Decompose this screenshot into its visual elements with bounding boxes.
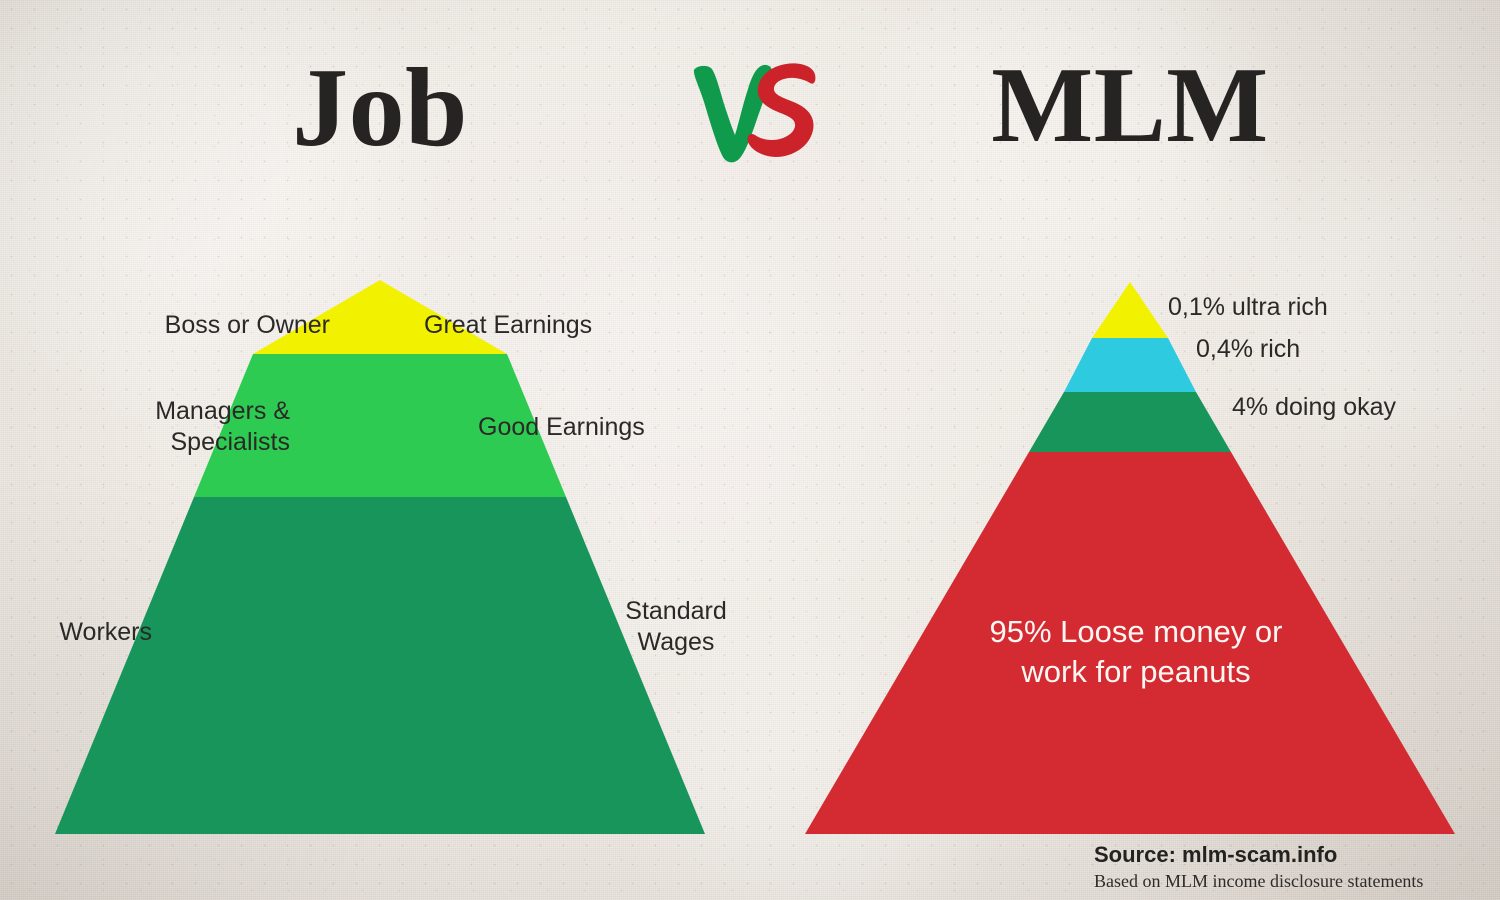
- mlm-tier-doing-okay: [1029, 392, 1231, 452]
- source-attribution: Source: mlm-scam.info Based on MLM incom…: [1072, 842, 1492, 892]
- job-label-great-earnings: Great Earnings: [424, 310, 684, 341]
- title-mlm: MLM: [760, 52, 1500, 160]
- source-subline: Based on MLM income disclosure statement…: [1094, 871, 1492, 892]
- job-label-workers: Workers: [0, 617, 152, 648]
- mlm-label-doing-okay: 4% doing okay: [1232, 392, 1500, 423]
- mlm-label-ultra-rich: 0,1% ultra rich: [1168, 292, 1458, 323]
- job-label-good-earnings: Good Earnings: [478, 412, 738, 443]
- job-label-managers-specialists: Managers & Specialists: [40, 396, 290, 457]
- mlm-label-loose-money: 95% Loose money or work for peanuts: [955, 612, 1317, 691]
- mlm-label-rich: 0,4% rich: [1196, 334, 1486, 365]
- mlm-tier-ultra-rich: [1092, 282, 1168, 338]
- mlm-tier-rich: [1064, 338, 1196, 392]
- job-label-standard-wages: Standard Wages: [600, 596, 752, 657]
- job-tier-workers: [55, 497, 705, 834]
- infographic-canvas: Job MLM Boss or Owner Managers & Special…: [0, 0, 1500, 900]
- title-job: Job: [0, 52, 760, 164]
- source-line: Source: mlm-scam.info: [1094, 842, 1492, 868]
- job-label-boss-or-owner: Boss or Owner: [40, 310, 330, 341]
- job-pyramid-chart: [40, 270, 720, 850]
